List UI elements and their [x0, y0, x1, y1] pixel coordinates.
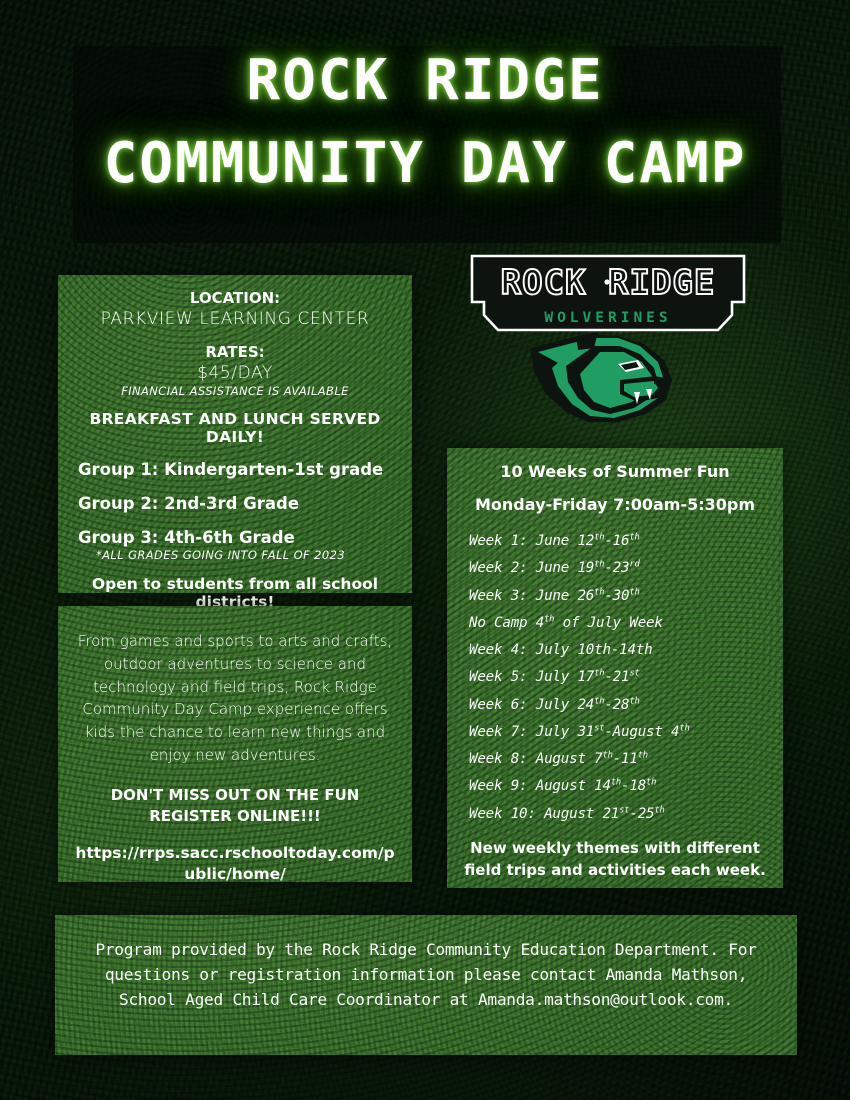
- week-line: No Camp 4th of July Week: [469, 610, 771, 637]
- cta-line-2: REGISTER ONLINE!!!: [149, 807, 321, 825]
- footer-panel: Program provided by the Rock Ridge Commu…: [55, 915, 797, 1055]
- rates-value: $45/DAY: [70, 363, 400, 383]
- financial-assistance-note: FINANCIAL ASSISTANCE IS AVAILABLE: [70, 384, 400, 398]
- grade-note: *ALL GRADES GOING INTO FALL OF 2023: [96, 548, 400, 562]
- week-line: Week 8: August 7th-11th: [469, 746, 771, 773]
- week-line: Week 2: June 19th-23rd: [469, 555, 771, 582]
- meals-note: BREAKFAST AND LUNCH SERVED DAILY!: [70, 410, 400, 446]
- footer-text: Program provided by the Rock Ridge Commu…: [79, 937, 773, 1012]
- wolverine-head-icon: [530, 332, 672, 422]
- registration-url[interactable]: https://rrps.sacc.rschooltoday.com/publi…: [74, 843, 396, 885]
- schedule-panel: 10 Weeks of Summer Fun Monday-Friday 7:0…: [447, 448, 783, 888]
- location-value: PARKVIEW LEARNING CENTER: [70, 309, 400, 329]
- rates-label: RATES:: [70, 343, 400, 361]
- info-panel: LOCATION: PARKVIEW LEARNING CENTER RATES…: [58, 275, 412, 593]
- week-line: Week 9: August 14th-18th: [469, 773, 771, 800]
- week-line: Week 7: July 31st-August 4th: [469, 719, 771, 746]
- week-list: Week 1: June 12th-16thWeek 2: June 19th-…: [469, 528, 771, 828]
- logo-dot-icon: [604, 279, 609, 284]
- title-line-2: COMMUNITY DAY CAMP: [0, 135, 850, 192]
- group-item-1: Group 1: Kindergarten-1st grade: [78, 460, 400, 479]
- rock-ridge-wolverines-logo: ROCK RIDGE WOLVERINES: [468, 252, 748, 432]
- group-item-3: Group 3: 4th-6th Grade: [78, 528, 400, 547]
- week-line: Week 10: August 21st-25th: [469, 801, 771, 828]
- schedule-footer-note: New weekly themes with different field t…: [459, 838, 771, 882]
- cta-line-1: DON'T MISS OUT ON THE FUN: [111, 786, 360, 804]
- week-line: Week 4: July 10th-14th: [469, 637, 771, 664]
- week-line: Week 5: July 17th-21st: [469, 664, 771, 691]
- logo-bottom-text: WOLVERINES: [544, 310, 671, 326]
- description-body: From games and sports to arts and crafts…: [74, 630, 396, 767]
- week-line: Week 6: July 24th-28th: [469, 692, 771, 719]
- schedule-hours: Monday-Friday 7:00am-5:30pm: [459, 495, 771, 514]
- poster-title: ROCK RIDGE COMMUNITY DAY CAMP: [0, 52, 850, 192]
- poster-canvas: ROCK RIDGE COMMUNITY DAY CAMP ROCK RIDGE…: [0, 0, 850, 1100]
- schedule-heading: 10 Weeks of Summer Fun: [459, 462, 771, 481]
- description-panel: From games and sports to arts and crafts…: [58, 606, 412, 882]
- title-line-1: ROCK RIDGE: [0, 52, 850, 109]
- group-item-2: Group 2: 2nd-3rd Grade: [78, 494, 400, 513]
- location-label: LOCATION:: [70, 289, 400, 307]
- week-line: Week 3: June 26th-30th: [469, 583, 771, 610]
- cta-text: DON'T MISS OUT ON THE FUN REGISTER ONLIN…: [74, 785, 396, 827]
- week-line: Week 1: June 12th-16th: [469, 528, 771, 555]
